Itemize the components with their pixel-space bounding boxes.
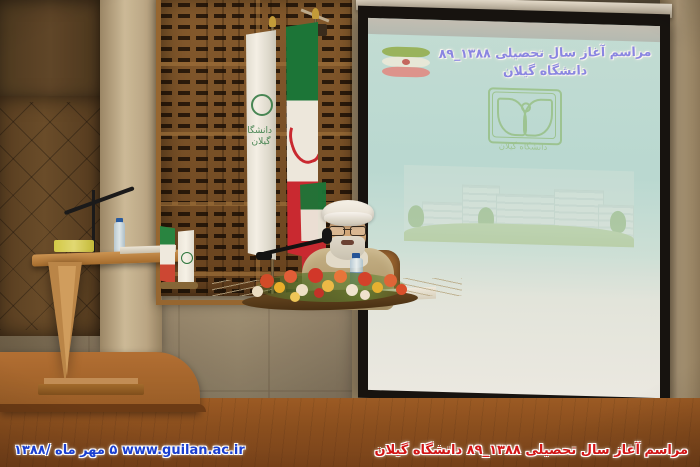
slide-title-line2: دانشگاه گیلان [430,62,660,79]
slide-title-line1: مراسم آغاز سال تحصیلی ۱۳۸۸_۸۹ [430,44,660,61]
stage-platform-edge [0,404,206,412]
university-flag-emblem: دانشگاه گیلان [250,126,272,192]
desk-flag-base [160,282,198,289]
university-logo-caption: دانشگاه گیلان [480,141,566,153]
caption-right: مراسم آغاز سال تحصیلی ۱۳۸۸_۸۹ دانشگاه گی… [374,443,688,458]
event-photo: مراسم آغاز سال تحصیلی ۱۳۸۸_۸۹ دانشگاه گی… [0,0,700,467]
eyeglasses-icon [329,226,366,234]
screen-top-band [368,18,660,42]
university-flag-ring-icon [251,94,273,116]
flag-emblem-icon [402,59,410,65]
desk-flag-emblem-icon [181,252,193,264]
table-microphone-head [322,228,332,244]
caption-date: ۵ مهر ماه /۱۳۸۸ [14,443,117,458]
lectern-base [38,384,144,395]
lectern-front-panel [58,266,76,376]
speaker-mouth [341,240,354,245]
wooden-panel-upper [0,0,106,100]
desk-flag-university [178,230,194,286]
speaker-turban-wrap [324,212,372,224]
podium-items [54,240,94,252]
flag-finial-icon [269,16,276,27]
projection-screen-surface: مراسم آغاز سال تحصیلی ۱۳۸۸_۸۹ دانشگاه گی… [368,18,660,398]
wall-pilaster [100,0,162,352]
website-url: www.guilan.ac.ir [122,443,245,458]
floral-arrangement [250,256,410,314]
projection-screen: مراسم آغاز سال تحصیلی ۱۳۸۸_۸۹ دانشگاه گی… [358,6,670,407]
caption-left: www.guilan.ac.ir ۵ مهر ماه /۱۳۸۸ [14,443,245,458]
campus-building-photo [404,165,634,247]
university-logo-icon: دانشگاه گیلان [480,87,566,165]
desk-flag-iran [160,226,175,284]
flag-finial-icon [312,8,319,19]
iran-flag-graphic-icon [382,46,430,77]
university-flag: دانشگاه گیلان [246,30,276,260]
